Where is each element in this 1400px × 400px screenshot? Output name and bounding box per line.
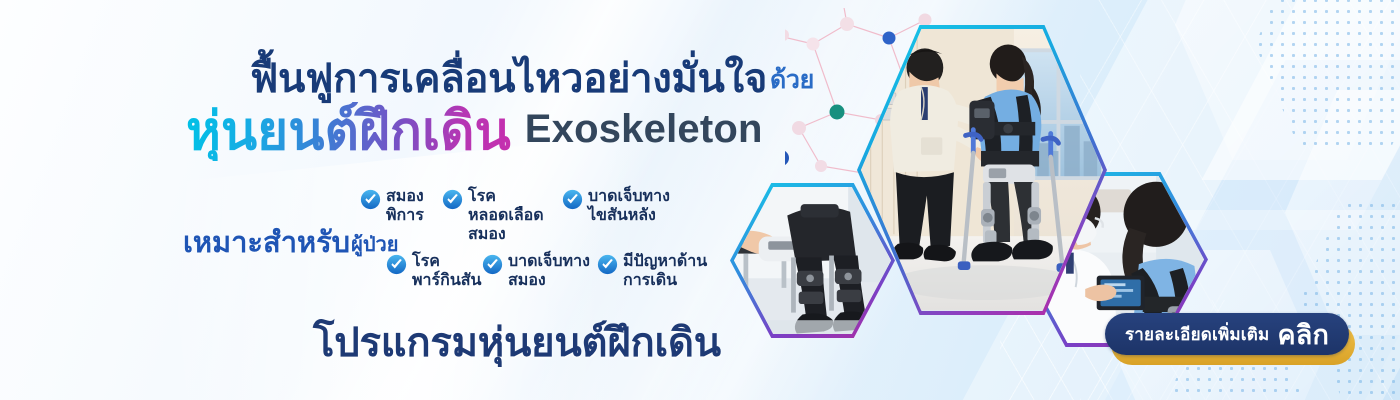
bg-hexagon-1	[1175, 0, 1400, 160]
headline-exoskeleton: Exoskeleton	[525, 107, 763, 151]
check-circle-icon	[360, 189, 381, 210]
list-item-label: สมอง พิการ	[386, 188, 424, 226]
cta-big-label: คลิก	[1277, 313, 1329, 356]
checklist-row-2: โรค พาร์กินสัน บาดเจ็บทาง สมอง มีปัญหาด้…	[386, 253, 760, 291]
check-circle-icon	[386, 254, 407, 275]
indications-checklist: สมอง พิการ โรค หลอดเลือดสมอง บาดเจ็บทาง …	[360, 188, 760, 290]
cta-container: รายละเอียดเพิ่มเติม คลิก	[1105, 313, 1355, 367]
list-item: สมอง พิการ	[360, 188, 442, 245]
suitable-for-main: เหมาะสำหรับ	[183, 227, 350, 259]
headline-line-1: ฟื้นฟูการเคลื่อนไหวอย่างมั่นใจด้วย	[250, 46, 814, 110]
halftone-dots-1	[1255, 0, 1400, 150]
check-circle-icon	[597, 254, 618, 275]
headline-part-movement: การเคลื่อนไหว	[333, 57, 583, 101]
list-item-label: บาดเจ็บทาง สมอง	[508, 253, 590, 291]
exoskeleton-promo-banner: ฟื้นฟูการเคลื่อนไหวอย่างมั่นใจด้วย หุ่นย…	[0, 0, 1400, 400]
halftone-dots-2	[1300, 200, 1400, 400]
check-circle-icon	[442, 189, 463, 210]
checklist-row-1: สมอง พิการ โรค หลอดเลือดสมอง บาดเจ็บทาง …	[360, 188, 760, 245]
check-circle-icon	[482, 254, 503, 275]
headline-robot-gait-trainer: หุ่นยนต์ฝึกเดิน	[186, 102, 511, 161]
headline-line-2: หุ่นยนต์ฝึกเดินExoskeleton	[186, 102, 763, 161]
check-circle-icon	[562, 189, 583, 210]
cta-small-label: รายละเอียดเพิ่มเติม	[1125, 321, 1270, 348]
list-item-label: โรค หลอดเลือดสมอง	[468, 188, 562, 245]
headline-part-with: ด้วย	[770, 66, 814, 94]
list-item: โรค พาร์กินสัน	[386, 253, 482, 291]
list-item: มีปัญหาด้าน การเดิน	[597, 253, 722, 291]
copy-block: ฟื้นฟูการเคลื่อนไหวอย่างมั่นใจด้วย หุ่นย…	[0, 0, 820, 400]
more-details-click-button[interactable]: รายละเอียดเพิ่มเติม คลิก	[1105, 313, 1349, 355]
list-item: โรค หลอดเลือดสมอง	[442, 188, 562, 245]
headline-part-confidence: อย่างมั่นใจ	[583, 57, 767, 101]
bg-plate-4	[1202, 0, 1400, 180]
program-title: โปรแกรมหุ่นยนต์ฝึกเดิน	[313, 310, 721, 374]
list-item-label: โรค พาร์กินสัน	[412, 253, 481, 291]
list-item-label: มีปัญหาด้าน การเดิน	[623, 253, 707, 291]
photo-hex-patient-walking	[857, 25, 1107, 315]
bg-hexagon-2	[1285, 90, 1400, 335]
headline-part-recover: ฟื้นฟู	[250, 57, 333, 101]
patient-walking-with-exoskeleton-and-therapist-image	[861, 29, 1103, 310]
list-item: บาดเจ็บทาง สมอง	[482, 253, 597, 291]
list-item: บาดเจ็บทาง ไขสันหลัง	[562, 188, 697, 245]
list-item-label: บาดเจ็บทาง ไขสันหลัง	[588, 188, 670, 226]
